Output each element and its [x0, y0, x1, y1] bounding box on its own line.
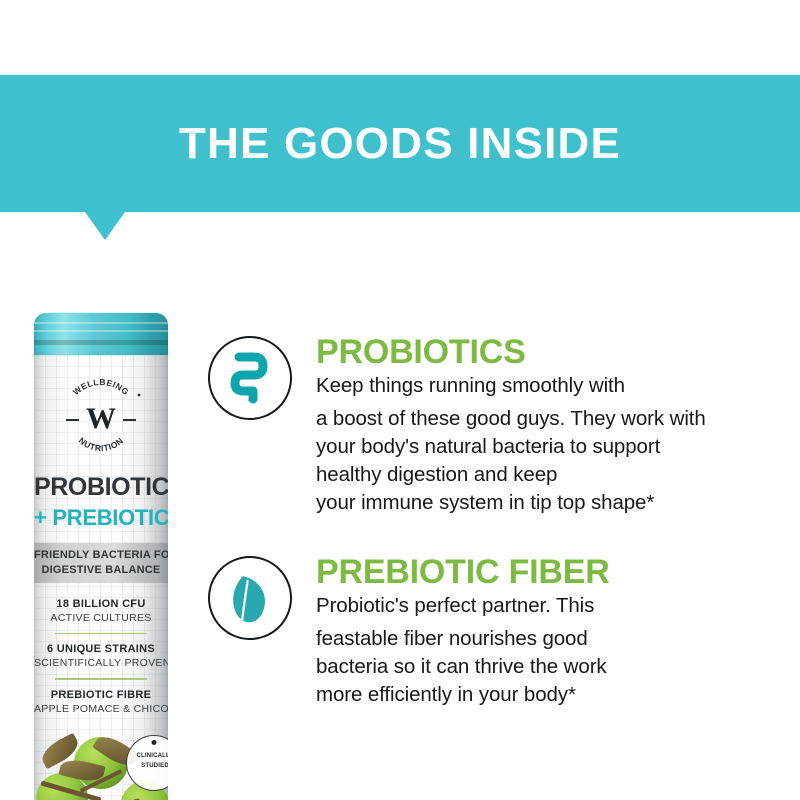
brand-arc-top: WELLBEING — [71, 377, 131, 397]
clinically-studied-badge: CLINICALLY STUDIED — [126, 735, 168, 791]
product-tube-image: WELLBEING NUTRITION W PROBIOTIC + PREBIO… — [25, 310, 177, 800]
benefit-body-line: your body's natural bacteria to support — [316, 433, 788, 461]
benefit-body-line: a boost of these good guys. They work wi… — [316, 405, 788, 433]
tube-tagline-line-2: DIGESTIVE BALANCE — [34, 563, 168, 578]
tube-tagline-line-1: FRIENDLY BACTERIA FOR — [34, 548, 168, 563]
tube-claim-main: 18 BILLION CFU — [34, 597, 168, 611]
tube-claim-main: PREBIOTIC FIBRE — [34, 688, 168, 702]
brand-arc-bottom: NUTRITION — [77, 435, 125, 453]
badge-dot-icon — [152, 740, 157, 745]
tube-botanical-illustration: CLINICALLY STUDIED — [34, 727, 168, 800]
tube-cap-rim — [34, 340, 168, 345]
benefit-section-probiotics: PROBIOTICS Keep things running smoothly … — [208, 334, 788, 517]
tube-claim-sub: SCIENTIFICALLY PROVEN* — [34, 656, 168, 670]
tube-claim-divider — [55, 678, 147, 679]
tube-product-title: PROBIOTIC — [34, 473, 168, 502]
brand-logo: WELLBEING NUTRITION W — [55, 373, 147, 465]
benefit-body-line: feastable fiber nourishes good — [316, 625, 788, 653]
badge-line-1: CLINICALLY — [131, 752, 168, 760]
tube-cap-ridge — [34, 322, 168, 324]
benefit-text-prebiotic-fiber: PREBIOTIC FIBER Probiotic's perfect part… — [316, 554, 788, 709]
page-title: THE GOODS INSIDE — [179, 119, 621, 169]
tube-label: WELLBEING NUTRITION W PROBIOTIC + PREBIO… — [34, 355, 168, 800]
tube-product-subtitle: + PREBIOTIC — [34, 505, 168, 531]
benefit-body-line: bacteria so it can thrive the work — [316, 653, 788, 681]
benefit-heading-prebiotic-fiber: PREBIOTIC FIBER — [316, 554, 788, 590]
benefit-body-probiotics: Keep things running smoothly with a boos… — [316, 372, 788, 517]
tube-cap — [34, 313, 168, 359]
brand-dash-right — [123, 419, 136, 421]
tube-claim-divider — [55, 633, 147, 634]
tube-claim: PREBIOTIC FIBRE APPLE POMACE & CHICORY R… — [34, 684, 168, 720]
benefit-body-line: your immune system in tip top shape* — [316, 489, 788, 517]
benefit-body-line: more efficiently in your body* — [316, 681, 788, 709]
benefit-body-prebiotic-fiber: Probiotic's perfect partner. This feasta… — [316, 592, 788, 709]
brand-monogram: W — [86, 402, 116, 436]
header-banner: THE GOODS INSIDE — [0, 75, 800, 212]
intestine-icon-circle — [208, 336, 292, 420]
badge-line-2: STUDIED — [131, 762, 168, 770]
tube-claim-main: 6 UNIQUE STRAINS — [34, 642, 168, 656]
svg-text:WELLBEING: WELLBEING — [71, 377, 131, 397]
tube-claims-list: 18 BILLION CFU ACTIVE CULTURES 6 UNIQUE … — [34, 593, 168, 720]
tube-tagline-band: FRIENDLY BACTERIA FOR DIGESTIVE BALANCE — [34, 543, 168, 583]
tube-claim-sub: APPLE POMACE & CHICORY ROOT — [34, 702, 168, 716]
benefit-section-prebiotic-fiber: PREBIOTIC FIBER Probiotic's perfect part… — [208, 554, 788, 709]
benefit-text-probiotics: PROBIOTICS Keep things running smoothly … — [316, 334, 788, 517]
leaf-icon-circle — [208, 556, 292, 640]
infographic-page: THE GOODS INSIDE WELLBEING — [0, 0, 800, 800]
benefit-body-line: Keep things running smoothly with — [316, 372, 788, 400]
header-notch-pointer — [85, 212, 125, 240]
brand-dash-left — [66, 419, 79, 421]
intestine-icon — [223, 349, 277, 407]
tube-claim: 18 BILLION CFU ACTIVE CULTURES — [34, 593, 168, 629]
svg-text:NUTRITION: NUTRITION — [77, 435, 125, 453]
benefit-body-line: healthy digestion and keep — [316, 461, 788, 489]
tube-claim-sub: ACTIVE CULTURES — [34, 611, 168, 625]
leaf-icon — [223, 569, 277, 627]
tube-cap-ridge — [34, 330, 168, 332]
tube-claim: 6 UNIQUE STRAINS SCIENTIFICALLY PROVEN* — [34, 638, 168, 674]
benefit-body-line: Probiotic's perfect partner. This — [316, 592, 788, 620]
benefit-heading-probiotics: PROBIOTICS — [316, 334, 788, 370]
